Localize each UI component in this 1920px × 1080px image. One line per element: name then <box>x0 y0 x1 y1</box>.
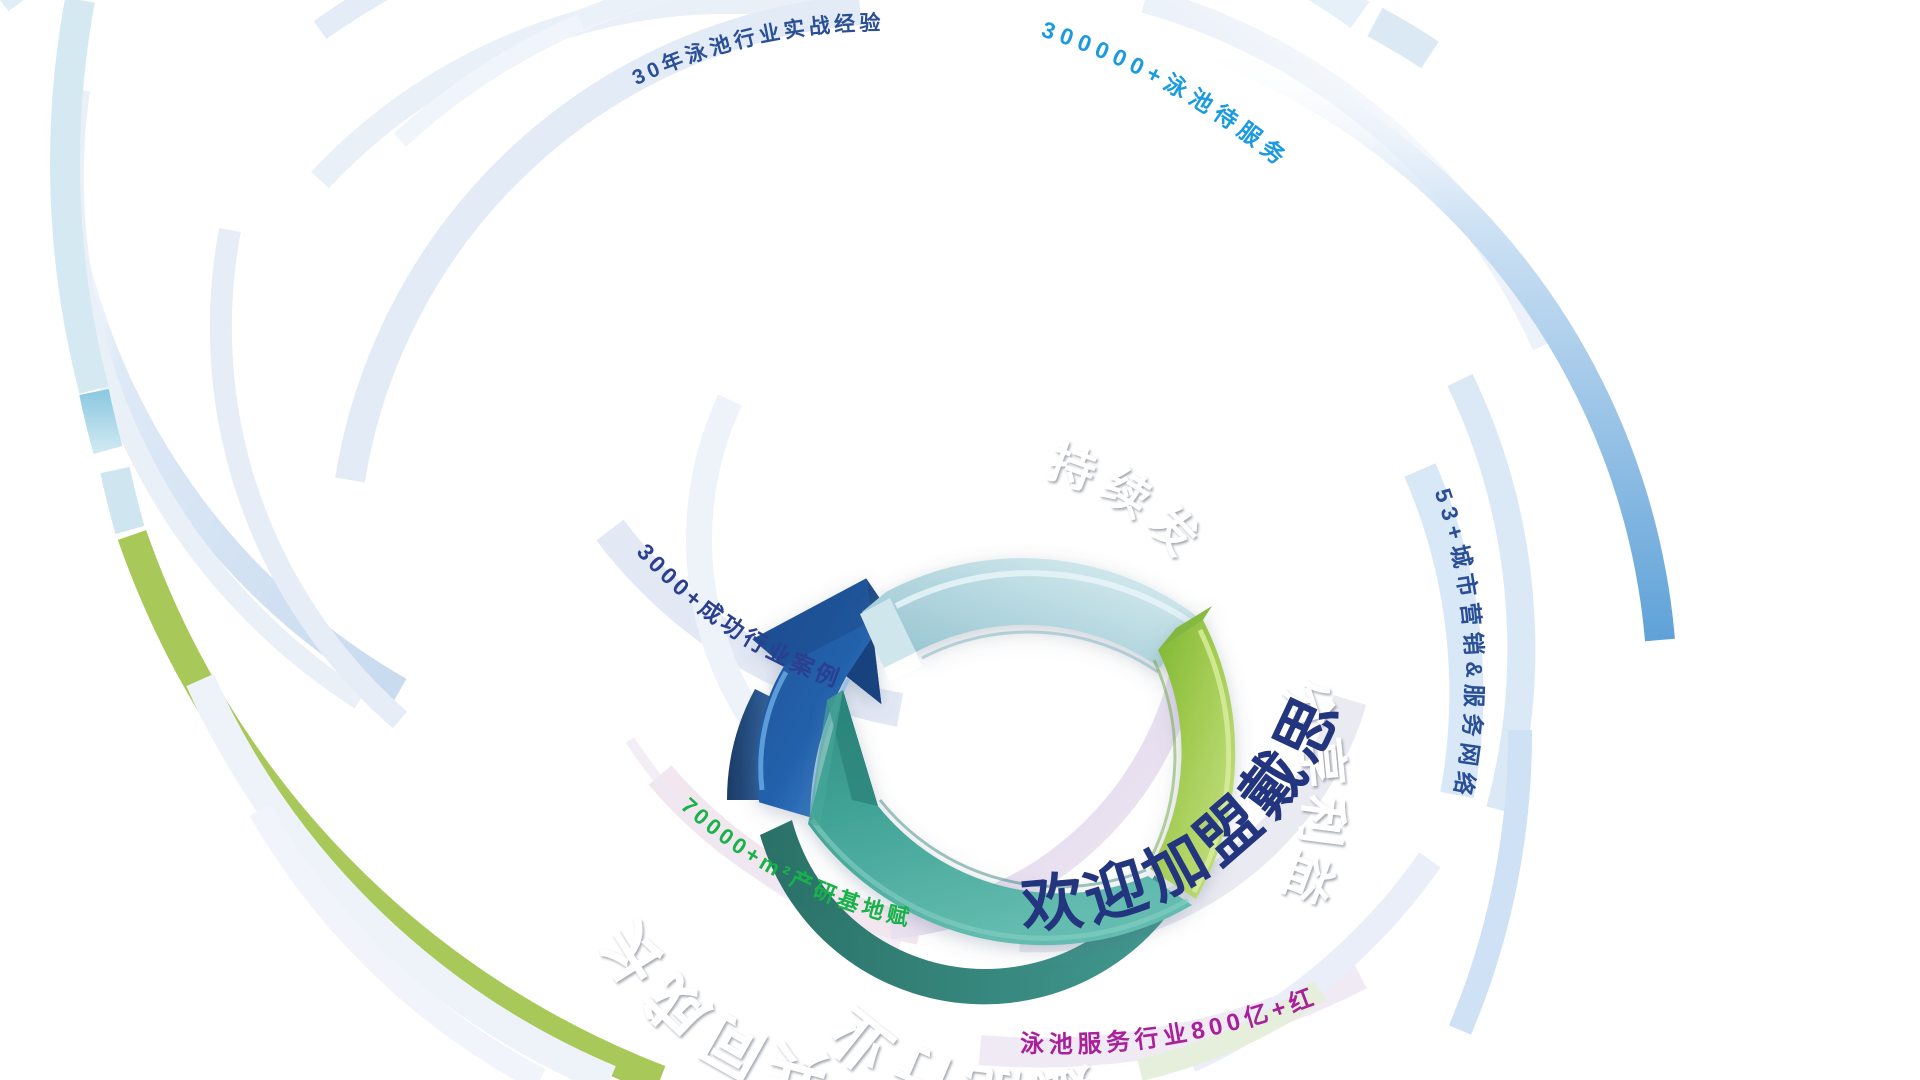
poster-canvas: 共同成长 持续发展 分享利益 赋能行业 30年泳池行业实战经验 300000+泳… <box>0 0 1920 1080</box>
poster-artwork: 共同成长 持续发展 分享利益 赋能行业 30年泳池行业实战经验 300000+泳… <box>0 0 1920 1080</box>
growth-cycle-donut <box>727 558 1235 1004</box>
